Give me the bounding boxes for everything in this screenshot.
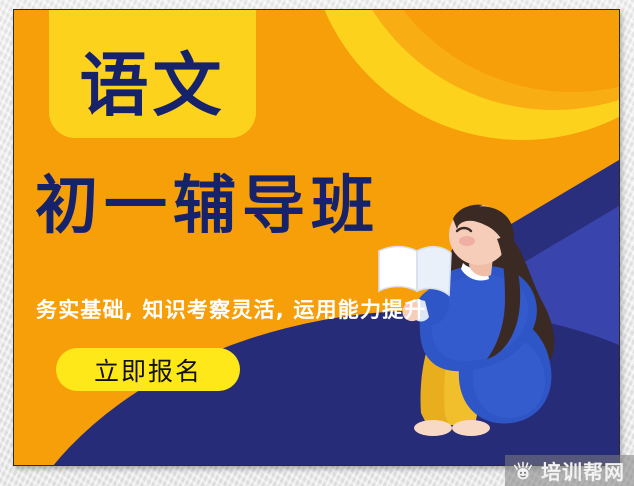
enroll-now-button[interactable]: 立即报名 bbox=[56, 348, 240, 391]
course-poster: 语文 初一辅导班 务实基础, 知识考察灵活, 运用能力提升 立即报名 bbox=[13, 9, 620, 466]
sun-face-icon bbox=[512, 460, 534, 482]
poster-headline: 初一辅导班 bbox=[35, 173, 380, 239]
watermark: 培训帮网 bbox=[505, 455, 634, 486]
watermark-text: 培训帮网 bbox=[541, 456, 625, 485]
subject-badge-label: 语文 bbox=[80, 52, 226, 138]
subject-badge: 语文 bbox=[49, 10, 256, 138]
poster-subtitle: 务实基础, 知识考察灵活, 运用能力提升 bbox=[36, 294, 427, 324]
poster-canvas: 语文 初一辅导班 务实基础, 知识考察灵活, 运用能力提升 立即报名 bbox=[14, 10, 619, 465]
enroll-now-label: 立即报名 bbox=[94, 352, 202, 388]
